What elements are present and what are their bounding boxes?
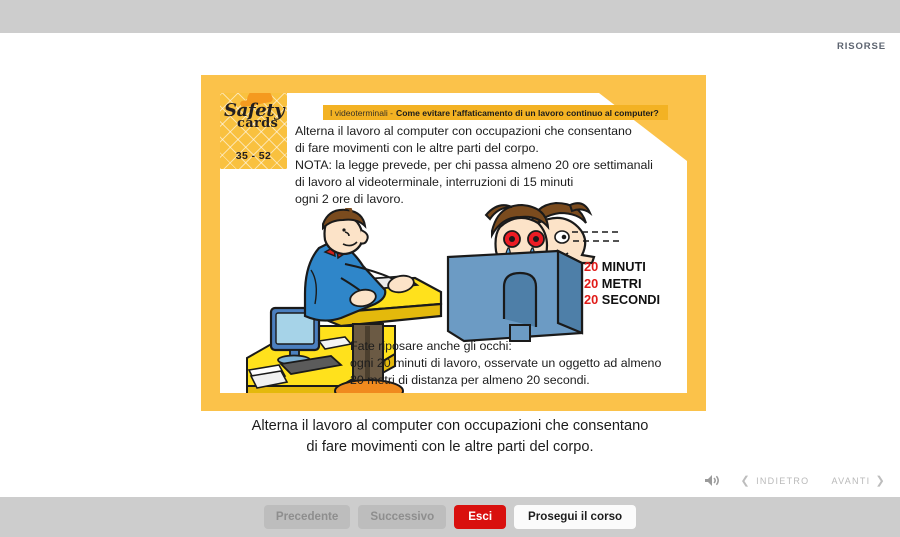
player-navigation: ❮ INDIETRO AVANTI ❯ [704, 474, 886, 487]
logo-line-cards: cards [237, 116, 278, 131]
rule-unit: SECONDI [602, 292, 660, 307]
nav-forward-button[interactable]: AVANTI ❯ [831, 474, 886, 487]
rule-number: 20 [584, 259, 598, 274]
rule-unit: METRI [602, 276, 642, 291]
rule-number: 20 [584, 276, 598, 291]
caption-line: di fare movimenti con le altre parti del… [0, 437, 900, 458]
previous-button[interactable]: Precedente [264, 505, 351, 529]
safety-cards-logo: Safety cards 35 - 52 [220, 93, 287, 169]
ribbon-question-label: Come evitare l'affaticamento di un lavor… [396, 108, 659, 118]
card-bottom-line: 20 metri di distanza per almeno 20 secon… [350, 372, 680, 389]
caption-line: Alterna il lavoro al computer con occupa… [0, 416, 900, 437]
card-top-line: Alterna il lavoro al computer con occupa… [295, 123, 667, 140]
nav-forward-label: AVANTI [831, 476, 870, 486]
rule-line: 20 MINUTI [584, 259, 660, 276]
chevron-right-icon: ❯ [875, 474, 886, 487]
nav-back-button[interactable]: ❮ INDIETRO [741, 474, 810, 487]
rule-20-20-20-block: 20 MINUTI 20 METRI 20 SECONDI [584, 259, 660, 309]
resources-link[interactable]: RISORSE [837, 41, 886, 52]
nav-back-label: INDIETRO [756, 476, 809, 486]
chevron-left-icon: ❮ [741, 474, 752, 487]
card-bottom-line: ogni 20 minuti di lavoro, osservate un o… [350, 355, 680, 372]
safety-card: Safety cards 35 - 52 I videoterminali - … [201, 75, 706, 411]
exit-button[interactable]: Esci [454, 505, 506, 529]
rule-unit: MINUTI [602, 259, 646, 274]
ribbon-section-label: I videoterminali - [330, 108, 393, 118]
course-player-page: RISORSE Safety cards 35 - 52 I videoterm… [0, 0, 900, 537]
speaker-icon[interactable] [704, 474, 719, 487]
rule-line: 20 SECONDI [584, 292, 660, 309]
card-bottom-text: Fate riposare anche gli occhi: ogni 20 m… [350, 338, 680, 389]
card-top-line: di lavoro al videoterminale, interruzion… [295, 174, 667, 191]
continue-course-button[interactable]: Prosegui il corso [514, 505, 636, 529]
card-top-line: NOTA: la legge prevede, per chi passa al… [295, 157, 667, 174]
bottom-toolbar: Precedente Successivo Esci Prosegui il c… [0, 497, 900, 537]
logo-card-range: 35 - 52 [220, 150, 287, 162]
card-bottom-line: Fate riposare anche gli occhi: [350, 338, 680, 355]
card-top-text: Alterna il lavoro al computer con occupa… [295, 123, 667, 208]
next-button[interactable]: Successivo [358, 505, 446, 529]
card-title-ribbon: I videoterminali - Come evitare l'affati… [323, 105, 668, 120]
top-bar [0, 0, 900, 33]
rule-line: 20 METRI [584, 276, 660, 293]
rule-number: 20 [584, 292, 598, 307]
card-top-line: di fare movimenti con le altre parti del… [295, 140, 667, 157]
safety-card-content: Safety cards 35 - 52 I videoterminali - … [220, 93, 687, 393]
slide-caption: Alterna il lavoro al computer con occupa… [0, 416, 900, 458]
